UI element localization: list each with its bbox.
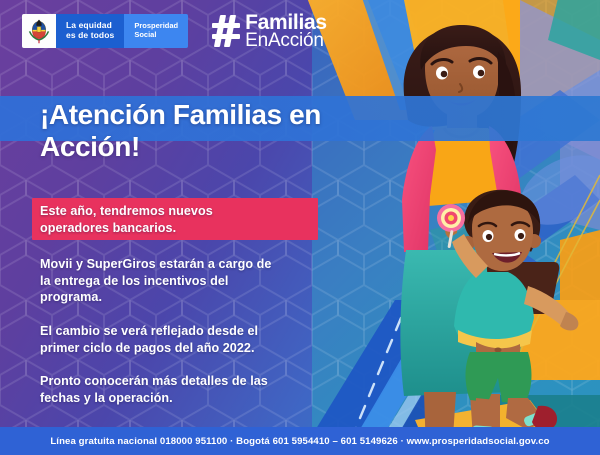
gov-line2: es de todos	[66, 30, 114, 40]
footer-contact-text: Línea gratuita nacional 018000 951100 · …	[50, 436, 549, 447]
paragraph-4-line-2: fechas y la operación.	[40, 391, 173, 405]
paragraph-2: Movii y SuperGiros estarán a cargo de la…	[40, 256, 352, 306]
body-copy: Este año, tendremos nuevos operadores ba…	[40, 203, 352, 406]
paragraph-2-line-2: la entrega de los incentivos del	[40, 274, 228, 288]
headline-line2: Acción!	[40, 131, 140, 162]
paragraph-2-line-1: Movii y SuperGiros estarán a cargo de	[40, 257, 271, 271]
familias-en-accion-logo: Familias EnAcción	[212, 13, 327, 50]
brand-wordmark: Familias EnAcción	[245, 13, 327, 50]
paragraph-3: El cambio se verá reflejado desde el pri…	[40, 323, 352, 356]
paragraph-4-line-1: Pronto conocerán más detalles de las	[40, 374, 268, 388]
paragraph-4: Pronto conocerán más detalles de las fec…	[40, 373, 352, 406]
colombia-coat-of-arms-icon	[22, 14, 56, 48]
poster-familias-en-accion: La equidad es de todos Prosperidad Socia…	[0, 0, 600, 455]
footer-contact-bar: Línea gratuita nacional 018000 951100 · …	[0, 427, 600, 455]
paragraph-3-line-1: El cambio se verá reflejado desde el	[40, 324, 258, 338]
header-bar: La equidad es de todos Prosperidad Socia…	[0, 0, 600, 62]
prosperidad-social-label: Prosperidad Social	[124, 14, 188, 48]
page-title: ¡Atención Familias en Acción!	[40, 99, 380, 162]
brand-line2: EnAcción	[245, 32, 327, 49]
paragraph-highlighted: Este año, tendremos nuevos operadores ba…	[40, 203, 352, 236]
government-lockup: La equidad es de todos Prosperidad Socia…	[22, 14, 188, 48]
hash-icon	[212, 15, 240, 47]
paragraph-2-line-3: programa.	[40, 290, 102, 304]
paragraph-1-line-1: Este año, tendremos nuevos	[40, 204, 213, 218]
paragraph-3-line-2: primer ciclo de pagos del año 2022.	[40, 341, 255, 355]
entity-line2: Social	[134, 30, 156, 39]
paragraph-1-line-2: operadores bancarios.	[40, 221, 176, 235]
headline-line1: ¡Atención Familias en	[40, 99, 321, 130]
equidad-label: La equidad es de todos	[56, 14, 124, 48]
gov-line1: La equidad	[66, 20, 112, 30]
